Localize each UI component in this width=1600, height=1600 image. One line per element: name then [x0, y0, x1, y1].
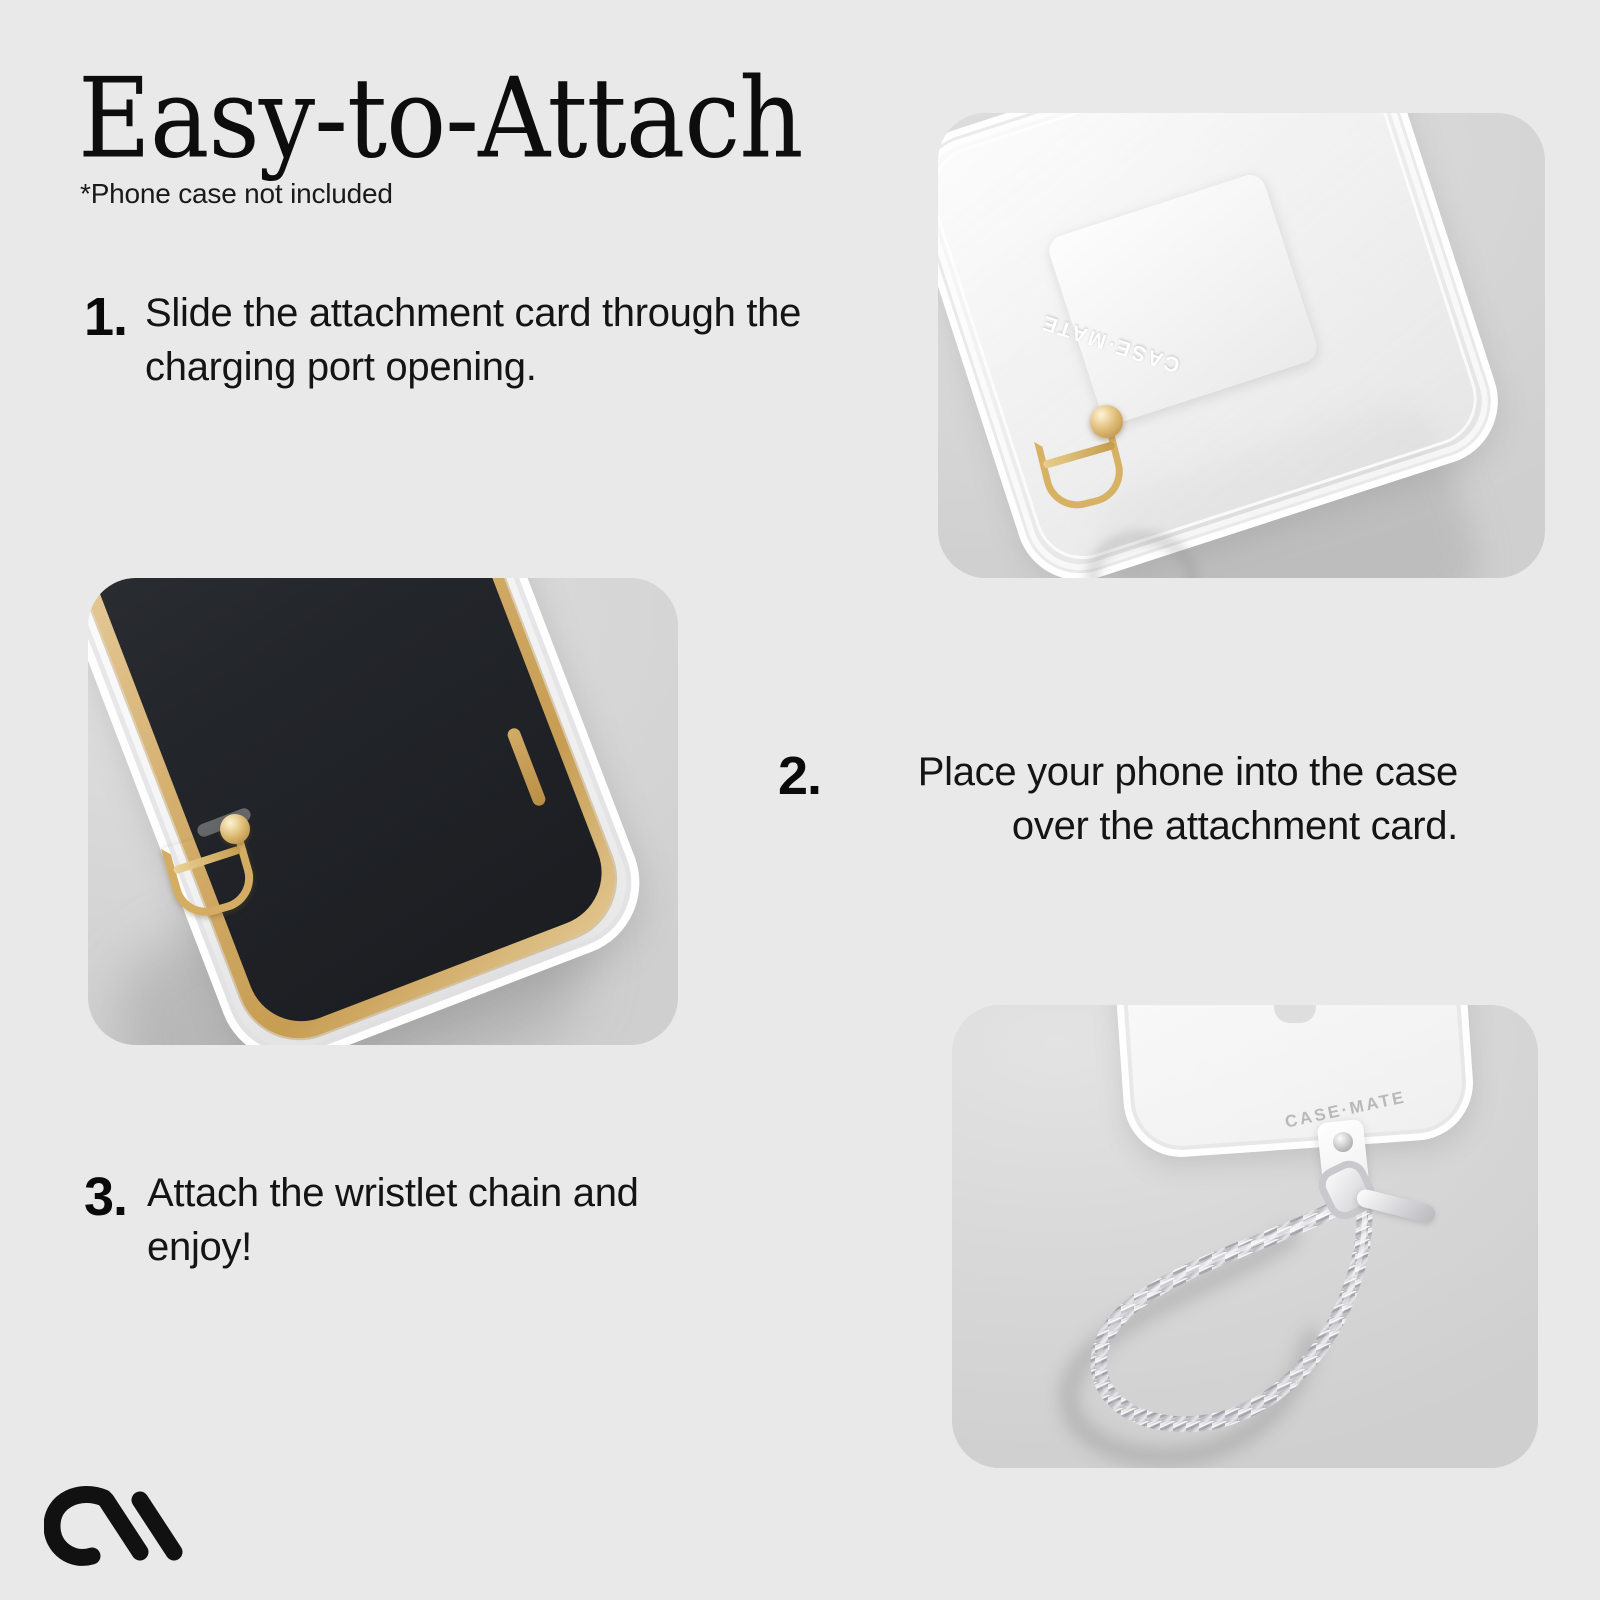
- step-text-3: Attach the wristlet chain and enjoy!: [147, 1166, 724, 1274]
- step-item-1: 1. Slide the attachment card through the…: [84, 286, 894, 394]
- photo-step-1: CASE·MATE: [938, 113, 1545, 578]
- page-title: Easy-to-Attach: [78, 62, 803, 174]
- photo-step-2: [88, 578, 678, 1045]
- wristlet-chain: [952, 1005, 1538, 1468]
- gold-rivet: [220, 814, 250, 844]
- chain-loop: [1099, 1201, 1365, 1424]
- step-text-1: Slide the attachment card through the ch…: [145, 286, 894, 394]
- page-subtitle: *Phone case not included: [80, 178, 393, 210]
- step-number-2: 2.: [778, 749, 821, 803]
- chain-highlight: [1099, 1201, 1365, 1424]
- step-number-3: 3.: [84, 1170, 127, 1224]
- photo-step-3: CASE·MATE: [952, 1005, 1538, 1468]
- step-text-2: Place your phone into the case over the …: [841, 745, 1458, 853]
- gold-rivet: [1090, 405, 1123, 438]
- case-mate-logo: [44, 1478, 186, 1574]
- step-number-1: 1.: [84, 290, 127, 344]
- step-item-2: 2. Place your phone into the case over t…: [778, 745, 1458, 853]
- step-item-3: 3. Attach the wristlet chain and enjoy!: [84, 1166, 724, 1274]
